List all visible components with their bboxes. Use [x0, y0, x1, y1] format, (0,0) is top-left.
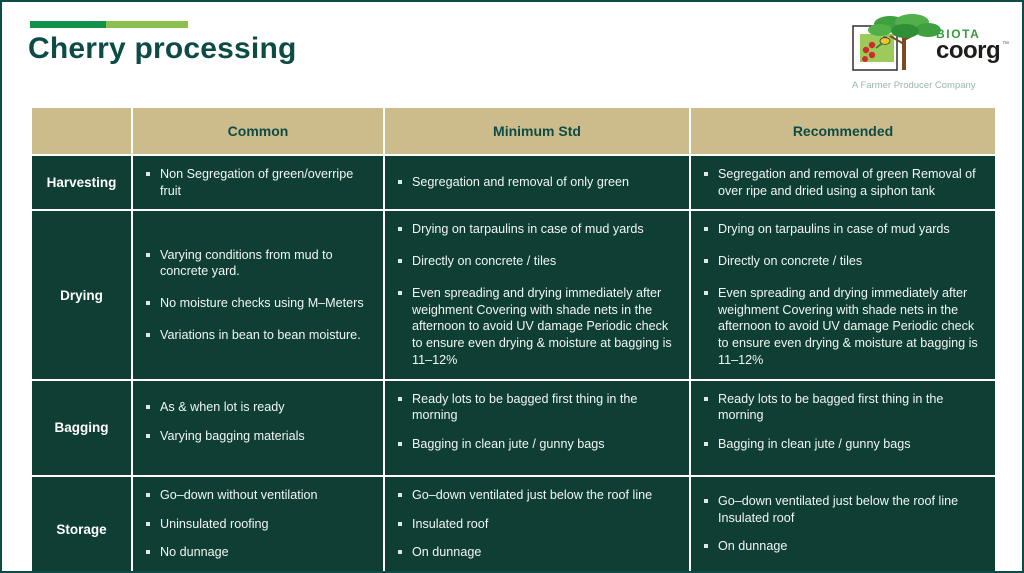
list-item: Even spreading and drying immediately af… [703, 285, 985, 369]
list-item: Varying bagging materials [145, 428, 373, 445]
slide-canvas: Cherry processing BIOTA coorg ™ A F [0, 0, 1024, 573]
stage-label-drying: Drying [32, 209, 133, 378]
table-row: Storage Go–down without ventilation Unin… [32, 475, 995, 573]
list-item: Directly on concrete / tiles [397, 253, 679, 270]
list-item: No dunnage [145, 544, 373, 561]
cell-bagging-common: As & when lot is ready Varying bagging m… [133, 379, 385, 475]
list-item: Ready lots to be bagged first thing in t… [703, 391, 985, 424]
cell-storage-common: Go–down without ventilation Uninsulated … [133, 475, 385, 573]
cell-harvesting-minimum-std: Segregation and removal of only green [385, 154, 691, 209]
list-item: Drying on tarpaulins in case of mud yard… [703, 221, 985, 238]
table-header-row: Common Minimum Std Recommended [32, 108, 995, 154]
list-item: Variations in bean to bean moisture. [145, 327, 373, 344]
cherry-processing-table: Common Minimum Std Recommended Harvestin… [32, 108, 995, 573]
bullet-list: As & when lot is ready Varying bagging m… [145, 399, 373, 444]
column-header-recommended: Recommended [691, 108, 995, 154]
cell-drying-recommended: Drying on tarpaulins in case of mud yard… [691, 209, 995, 378]
cell-storage-recommended: Go–down ventilated just below the roof l… [691, 475, 995, 573]
column-header-minimum-std: Minimum Std [385, 108, 691, 154]
accent-segment-dark [30, 21, 106, 28]
list-item: Directly on concrete / tiles [703, 253, 985, 270]
stage-label-storage: Storage [32, 475, 133, 573]
bullet-list: Varying conditions from mud to concrete … [145, 247, 373, 344]
coffee-tree-logo-icon [850, 14, 942, 76]
cell-drying-minimum-std: Drying on tarpaulins in case of mud yard… [385, 209, 691, 378]
stage-label-bagging: Bagging [32, 379, 133, 475]
cell-harvesting-common: Non Segregation of green/overripe fruit [133, 154, 385, 209]
list-item: Varying conditions from mud to concrete … [145, 247, 373, 280]
table-row: Harvesting Non Segregation of green/over… [32, 154, 995, 209]
cell-bagging-recommended: Ready lots to be bagged first thing in t… [691, 379, 995, 475]
page-title: Cherry processing [28, 32, 297, 66]
table-row: Bagging As & when lot is ready Varying b… [32, 379, 995, 475]
list-item: On dunnage [397, 544, 679, 561]
logo-brand-main: coorg [936, 39, 1006, 63]
logo-tagline: A Farmer Producer Company [852, 80, 976, 91]
cell-drying-common: Varying conditions from mud to concrete … [133, 209, 385, 378]
list-item: Segregation and removal of green Removal… [703, 166, 985, 199]
list-item: Go–down ventilated just below the roof l… [397, 487, 679, 504]
accent-segment-light [106, 21, 188, 28]
bullet-list: Go–down ventilated just below the roof l… [397, 487, 679, 561]
list-item: Insulated roof [397, 516, 679, 533]
bullet-list: Go–down without ventilation Uninsulated … [145, 487, 373, 561]
bullet-list: Go–down ventilated just below the roof l… [703, 493, 985, 555]
list-item: Bagging in clean jute / gunny bags [397, 436, 679, 453]
title-accent-bar [30, 21, 188, 28]
bullet-list: Drying on tarpaulins in case of mud yard… [703, 221, 985, 368]
column-header-stage [32, 108, 133, 154]
cell-harvesting-recommended: Segregation and removal of green Removal… [691, 154, 995, 209]
stage-label-harvesting: Harvesting [32, 154, 133, 209]
list-item: Go–down without ventilation [145, 487, 373, 504]
bullet-list: Segregation and removal of only green [397, 174, 679, 191]
list-item: As & when lot is ready [145, 399, 373, 416]
bullet-list: Non Segregation of green/overripe fruit [145, 166, 373, 199]
trademark-icon: ™ [1002, 41, 1009, 48]
list-item: On dunnage [703, 538, 985, 555]
list-item: Go–down ventilated just below the roof l… [703, 493, 985, 526]
list-item: Even spreading and drying immediately af… [397, 285, 679, 369]
list-item: Non Segregation of green/overripe fruit [145, 166, 373, 199]
cell-bagging-minimum-std: Ready lots to be bagged first thing in t… [385, 379, 691, 475]
logo-wordmark: BIOTA coorg ™ [936, 28, 1006, 63]
cell-storage-minimum-std: Go–down ventilated just below the roof l… [385, 475, 691, 573]
bullet-list: Drying on tarpaulins in case of mud yard… [397, 221, 679, 368]
bullet-list: Segregation and removal of green Removal… [703, 166, 985, 199]
bullet-list: Ready lots to be bagged first thing in t… [703, 391, 985, 453]
list-item: Segregation and removal of only green [397, 174, 679, 191]
list-item: No moisture checks using M–Meters [145, 295, 373, 312]
brand-logo: BIOTA coorg ™ A Farmer Producer Company [850, 14, 1000, 96]
column-header-common: Common [133, 108, 385, 154]
list-item: Uninsulated roofing [145, 516, 373, 533]
list-item: Drying on tarpaulins in case of mud yard… [397, 221, 679, 238]
list-item: Ready lots to be bagged first thing in t… [397, 391, 679, 424]
list-item: Bagging in clean jute / gunny bags [703, 436, 985, 453]
table-row: Drying Varying conditions from mud to co… [32, 209, 995, 378]
bullet-list: Ready lots to be bagged first thing in t… [397, 391, 679, 453]
